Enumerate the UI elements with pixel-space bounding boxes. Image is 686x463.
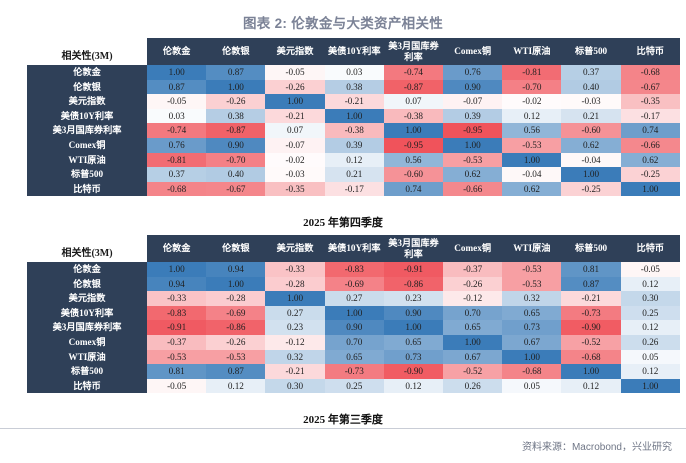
row-label: 标普500 bbox=[27, 364, 147, 379]
column-header-8: 标普500 bbox=[561, 38, 620, 65]
column-header-6: Comex铜 bbox=[443, 38, 502, 65]
heatmap-cell: -0.53 bbox=[502, 262, 561, 277]
column-header-2: 伦敦银 bbox=[206, 38, 265, 65]
row-label: WTI原油 bbox=[27, 350, 147, 365]
row-label: 美元指数 bbox=[27, 291, 147, 306]
heatmap-cell: -0.05 bbox=[147, 379, 206, 394]
heatmap-cell: -0.60 bbox=[384, 167, 443, 182]
heatmap-cell: 0.94 bbox=[206, 262, 265, 277]
table-row: 美债10Y利率0.030.38-0.211.00-0.380.390.120.2… bbox=[27, 109, 680, 124]
heatmap-cell: 0.73 bbox=[502, 320, 561, 335]
correlation-table-q4: 相关性(3M)伦敦金伦敦银美元指数美债10Y利率美3月国库券利率Comex铜WT… bbox=[27, 38, 680, 196]
table-row: WTI原油-0.53-0.530.320.650.730.671.00-0.68… bbox=[27, 350, 680, 365]
heatmap-cell: 1.00 bbox=[384, 320, 443, 335]
heatmap-cell: 0.26 bbox=[443, 379, 502, 394]
column-header-1: 伦敦金 bbox=[147, 38, 206, 65]
heatmap-cell: -0.35 bbox=[621, 94, 680, 109]
heatmap-cell: -0.04 bbox=[502, 167, 561, 182]
heatmap-cell: -0.91 bbox=[147, 320, 206, 335]
heatmap-cell: 1.00 bbox=[147, 65, 206, 80]
column-header-8: 标普500 bbox=[561, 235, 620, 262]
heatmap-cell: -0.87 bbox=[206, 123, 265, 138]
heatmap-cell: -0.83 bbox=[147, 306, 206, 321]
heatmap-cell: 0.87 bbox=[147, 80, 206, 95]
heatmap-cell: -0.21 bbox=[325, 94, 384, 109]
heatmap-cell: 0.25 bbox=[621, 306, 680, 321]
heatmap-cell: -0.38 bbox=[384, 109, 443, 124]
heatmap-cell: 1.00 bbox=[384, 123, 443, 138]
heatmap-cell: 1.00 bbox=[621, 379, 680, 394]
heatmap-cell: 0.03 bbox=[147, 109, 206, 124]
heatmap-cell: -0.12 bbox=[265, 335, 324, 350]
row-label: Comex铜 bbox=[27, 138, 147, 153]
heatmap-cell: -0.70 bbox=[206, 153, 265, 168]
heatmap-cell: 1.00 bbox=[325, 306, 384, 321]
heatmap-cell: 0.76 bbox=[147, 138, 206, 153]
column-header-7: WTI原油 bbox=[502, 235, 561, 262]
heatmap-cell: 1.00 bbox=[443, 335, 502, 350]
heatmap-cell: -0.05 bbox=[265, 65, 324, 80]
heatmap-cell: 0.65 bbox=[325, 350, 384, 365]
heatmap-cell: 1.00 bbox=[443, 138, 502, 153]
page-title: 图表 2: 伦敦金与大类资产相关性 bbox=[0, 12, 686, 32]
heatmap-cell: 0.32 bbox=[502, 291, 561, 306]
column-header-5: 美3月国库券利率 bbox=[384, 235, 443, 262]
heatmap-cell: -0.25 bbox=[561, 182, 620, 197]
heatmap-cell: -0.68 bbox=[621, 65, 680, 80]
heatmap-cell: 0.67 bbox=[443, 350, 502, 365]
table-header-row: 相关性(3M)伦敦金伦敦银美元指数美债10Y利率美3月国库券利率Comex铜WT… bbox=[27, 38, 680, 65]
heatmap-cell: 1.00 bbox=[206, 80, 265, 95]
heatmap-cell: 0.38 bbox=[325, 80, 384, 95]
heatmap-cell: -0.67 bbox=[206, 182, 265, 197]
heatmap-cell: 0.23 bbox=[265, 320, 324, 335]
table-row: 伦敦金1.000.87-0.050.03-0.740.76-0.810.37-0… bbox=[27, 65, 680, 80]
table-row: 伦敦银0.871.00-0.260.38-0.870.90-0.700.40-0… bbox=[27, 80, 680, 95]
heatmap-cell: 0.27 bbox=[325, 291, 384, 306]
heatmap-cell: -0.66 bbox=[443, 182, 502, 197]
column-header-9: 比特币 bbox=[621, 235, 680, 262]
heatmap-cell: 0.23 bbox=[384, 291, 443, 306]
heatmap-cell: 0.94 bbox=[147, 277, 206, 292]
heatmap-cell: 1.00 bbox=[502, 350, 561, 365]
heatmap-cell: 1.00 bbox=[206, 277, 265, 292]
heatmap-cell: -0.26 bbox=[443, 277, 502, 292]
table-row: 美3月国库券利率-0.74-0.870.07-0.381.00-0.950.56… bbox=[27, 123, 680, 138]
table-body: 伦敦金1.000.94-0.33-0.83-0.91-0.37-0.530.81… bbox=[27, 262, 680, 393]
heatmap-cell: -0.21 bbox=[265, 109, 324, 124]
table-row: 比特币-0.050.120.300.250.120.260.050.121.00 bbox=[27, 379, 680, 394]
heatmap-cell: -0.69 bbox=[325, 277, 384, 292]
row-label: 比特币 bbox=[27, 379, 147, 394]
row-label: 标普500 bbox=[27, 167, 147, 182]
row-label: 伦敦银 bbox=[27, 277, 147, 292]
heatmap-cell: 0.12 bbox=[621, 320, 680, 335]
heatmap-cell: -0.53 bbox=[443, 153, 502, 168]
row-label: 美3月国库券利率 bbox=[27, 320, 147, 335]
table-row: 美债10Y利率-0.83-0.690.271.000.900.700.65-0.… bbox=[27, 306, 680, 321]
table-header-row: 相关性(3M)伦敦金伦敦银美元指数美债10Y利率美3月国库券利率Comex铜WT… bbox=[27, 235, 680, 262]
heatmap-cell: -0.73 bbox=[561, 306, 620, 321]
column-header-3: 美元指数 bbox=[265, 38, 324, 65]
heatmap-cell: 0.62 bbox=[621, 153, 680, 168]
heatmap-cell: 0.39 bbox=[325, 138, 384, 153]
heatmap-cell: -0.26 bbox=[265, 80, 324, 95]
heatmap-cell: -0.05 bbox=[147, 94, 206, 109]
corner-label: 相关性(3M) bbox=[27, 235, 147, 262]
heatmap-cell: -0.17 bbox=[325, 182, 384, 197]
heatmap-cell: -0.33 bbox=[147, 291, 206, 306]
heatmap-cell: 1.00 bbox=[561, 167, 620, 182]
heatmap-cell: 1.00 bbox=[147, 262, 206, 277]
heatmap-cell: -0.33 bbox=[265, 262, 324, 277]
heatmap-cell: 0.70 bbox=[325, 335, 384, 350]
heatmap-cell: -0.03 bbox=[265, 167, 324, 182]
row-label: 比特币 bbox=[27, 182, 147, 197]
heatmap-cell: 1.00 bbox=[561, 364, 620, 379]
heatmap-cell: -0.90 bbox=[384, 364, 443, 379]
heatmap-cell: 0.12 bbox=[621, 277, 680, 292]
source-divider bbox=[0, 428, 686, 429]
heatmap-cell: 0.21 bbox=[561, 109, 620, 124]
heatmap-cell: 0.62 bbox=[443, 167, 502, 182]
heatmap-cell: 0.12 bbox=[206, 379, 265, 394]
heatmap-cell: -0.53 bbox=[147, 350, 206, 365]
heatmap-cell: 0.30 bbox=[621, 291, 680, 306]
heatmap-cell: -0.68 bbox=[561, 350, 620, 365]
heatmap-cell: 0.90 bbox=[325, 320, 384, 335]
heatmap-cell: 1.00 bbox=[325, 109, 384, 124]
heatmap-cell: -0.53 bbox=[502, 138, 561, 153]
heatmap-cell: -0.37 bbox=[443, 262, 502, 277]
heatmap-cell: -0.87 bbox=[384, 80, 443, 95]
heatmap-cell: 0.40 bbox=[561, 80, 620, 95]
column-header-5: 美3月国库券利率 bbox=[384, 38, 443, 65]
heatmap-cell: -0.74 bbox=[147, 123, 206, 138]
heatmap-cell: -0.68 bbox=[147, 182, 206, 197]
row-label: 美债10Y利率 bbox=[27, 306, 147, 321]
heatmap-cell: 0.12 bbox=[502, 109, 561, 124]
heatmap-cell: -0.81 bbox=[502, 65, 561, 80]
heatmap-cell: -0.12 bbox=[443, 291, 502, 306]
heatmap-cell: -0.21 bbox=[265, 364, 324, 379]
heatmap-cell: -0.26 bbox=[206, 94, 265, 109]
heatmap-cell: -0.05 bbox=[621, 262, 680, 277]
heatmap-cell: 0.12 bbox=[384, 379, 443, 394]
column-header-4: 美债10Y利率 bbox=[325, 235, 384, 262]
heatmap-cell: 0.81 bbox=[147, 364, 206, 379]
heatmap-cell: 0.56 bbox=[502, 123, 561, 138]
column-header-2: 伦敦银 bbox=[206, 235, 265, 262]
heatmap-cell: 0.21 bbox=[325, 167, 384, 182]
heatmap-cell: 0.90 bbox=[384, 306, 443, 321]
heatmap-cell: -0.02 bbox=[502, 94, 561, 109]
row-label: 美债10Y利率 bbox=[27, 109, 147, 124]
table-row: 美3月国库券利率-0.91-0.860.230.901.000.650.73-0… bbox=[27, 320, 680, 335]
heatmap-cell: -0.26 bbox=[206, 335, 265, 350]
column-header-3: 美元指数 bbox=[265, 235, 324, 262]
heatmap-cell: 0.07 bbox=[384, 94, 443, 109]
heatmap-cell: 0.37 bbox=[561, 65, 620, 80]
heatmap-cell: 1.00 bbox=[502, 153, 561, 168]
row-label: WTI原油 bbox=[27, 153, 147, 168]
heatmap-cell: -0.74 bbox=[384, 65, 443, 80]
heatmap-cell: 0.62 bbox=[502, 182, 561, 197]
row-label: Comex铜 bbox=[27, 335, 147, 350]
heatmap-cell: 0.87 bbox=[206, 364, 265, 379]
source-note: 资料来源：Macrobond，兴业研究 bbox=[522, 438, 672, 453]
heatmap-cell: 0.67 bbox=[502, 335, 561, 350]
table-row: 标普5000.370.40-0.030.21-0.600.62-0.041.00… bbox=[27, 167, 680, 182]
heatmap-cell: -0.66 bbox=[621, 138, 680, 153]
table-row: 伦敦金1.000.94-0.33-0.83-0.91-0.37-0.530.81… bbox=[27, 262, 680, 277]
heatmap-cell: 0.40 bbox=[206, 167, 265, 182]
heatmap-cell: 0.37 bbox=[147, 167, 206, 182]
heatmap-cell: 0.62 bbox=[561, 138, 620, 153]
column-header-1: 伦敦金 bbox=[147, 235, 206, 262]
heatmap-cell: 0.05 bbox=[621, 350, 680, 365]
heatmap-cell: -0.81 bbox=[147, 153, 206, 168]
row-label: 伦敦银 bbox=[27, 80, 147, 95]
correlation-table-q3: 相关性(3M)伦敦金伦敦银美元指数美债10Y利率美3月国库券利率Comex铜WT… bbox=[27, 235, 680, 393]
table-row: WTI原油-0.81-0.70-0.020.120.56-0.531.00-0.… bbox=[27, 153, 680, 168]
heatmap-cell: -0.17 bbox=[621, 109, 680, 124]
row-label: 伦敦金 bbox=[27, 65, 147, 80]
heatmap-cell: 0.73 bbox=[384, 350, 443, 365]
heatmap-cell: 0.03 bbox=[325, 65, 384, 80]
heatmap-cell: -0.68 bbox=[502, 364, 561, 379]
heatmap-cell: -0.67 bbox=[621, 80, 680, 95]
heatmap-cell: -0.03 bbox=[561, 94, 620, 109]
heatmap-cell: 0.76 bbox=[443, 65, 502, 80]
heatmap-cell: 0.90 bbox=[443, 80, 502, 95]
row-label: 美元指数 bbox=[27, 94, 147, 109]
heatmap-cell: 1.00 bbox=[621, 182, 680, 197]
row-label: 美3月国库券利率 bbox=[27, 123, 147, 138]
heatmap-cell: -0.21 bbox=[561, 291, 620, 306]
column-header-7: WTI原油 bbox=[502, 38, 561, 65]
heatmap-cell: 1.00 bbox=[265, 291, 324, 306]
heatmap-cell: -0.25 bbox=[621, 167, 680, 182]
heatmap-cell: -0.38 bbox=[325, 123, 384, 138]
heatmap-cell: 0.87 bbox=[561, 277, 620, 292]
heatmap-cell: 0.12 bbox=[561, 379, 620, 394]
heatmap-cell: -0.28 bbox=[265, 277, 324, 292]
heatmap-cell: -0.86 bbox=[384, 277, 443, 292]
heatmap-cell: 0.56 bbox=[384, 153, 443, 168]
heatmap-cell: -0.86 bbox=[206, 320, 265, 335]
table-row: 美元指数-0.05-0.261.00-0.210.07-0.07-0.02-0.… bbox=[27, 94, 680, 109]
heatmap-cell: 0.74 bbox=[621, 123, 680, 138]
heatmap-cell: -0.35 bbox=[265, 182, 324, 197]
heatmap-cell: 0.65 bbox=[502, 306, 561, 321]
table-caption-q4: 2025 年第四季度 bbox=[0, 214, 686, 230]
heatmap-cell: -0.52 bbox=[561, 335, 620, 350]
heatmap-cell: 0.39 bbox=[443, 109, 502, 124]
heatmap-cell: -0.07 bbox=[265, 138, 324, 153]
heatmap-cell: 0.87 bbox=[206, 65, 265, 80]
heatmap-cell: -0.95 bbox=[384, 138, 443, 153]
column-header-4: 美债10Y利率 bbox=[325, 38, 384, 65]
heatmap-cell: 0.25 bbox=[325, 379, 384, 394]
heatmap-cell: -0.70 bbox=[502, 80, 561, 95]
heatmap-cell: 0.65 bbox=[384, 335, 443, 350]
heatmap-cell: 0.74 bbox=[384, 182, 443, 197]
heatmap-cell: -0.83 bbox=[325, 262, 384, 277]
heatmap-cell: -0.07 bbox=[443, 94, 502, 109]
heatmap-cell: -0.60 bbox=[561, 123, 620, 138]
heatmap-cell: -0.53 bbox=[502, 277, 561, 292]
heatmap-cell: 0.12 bbox=[621, 364, 680, 379]
corner-label: 相关性(3M) bbox=[27, 38, 147, 65]
heatmap-cell: 0.38 bbox=[206, 109, 265, 124]
heatmap-cell: 0.32 bbox=[265, 350, 324, 365]
heatmap-cell: -0.53 bbox=[206, 350, 265, 365]
table-row: 标普5000.810.87-0.21-0.73-0.90-0.52-0.681.… bbox=[27, 364, 680, 379]
table-row: 美元指数-0.33-0.281.000.270.23-0.120.32-0.21… bbox=[27, 291, 680, 306]
heatmap-cell: 0.26 bbox=[621, 335, 680, 350]
heatmap-cell: 0.30 bbox=[265, 379, 324, 394]
heatmap-cell: 0.05 bbox=[502, 379, 561, 394]
column-header-9: 比特币 bbox=[621, 38, 680, 65]
column-header-6: Comex铜 bbox=[443, 235, 502, 262]
table-row: 比特币-0.68-0.67-0.35-0.170.74-0.660.62-0.2… bbox=[27, 182, 680, 197]
heatmap-cell: -0.95 bbox=[443, 123, 502, 138]
heatmap-cell: -0.02 bbox=[265, 153, 324, 168]
heatmap-table: 相关性(3M)伦敦金伦敦银美元指数美债10Y利率美3月国库券利率Comex铜WT… bbox=[27, 38, 680, 196]
heatmap-cell: 0.81 bbox=[561, 262, 620, 277]
heatmap-cell: -0.52 bbox=[443, 364, 502, 379]
table-body: 伦敦金1.000.87-0.050.03-0.740.76-0.810.37-0… bbox=[27, 65, 680, 196]
heatmap-cell: -0.73 bbox=[325, 364, 384, 379]
heatmap-cell: -0.37 bbox=[147, 335, 206, 350]
heatmap-cell: 0.27 bbox=[265, 306, 324, 321]
heatmap-cell: 0.70 bbox=[443, 306, 502, 321]
heatmap-cell: -0.04 bbox=[561, 153, 620, 168]
heatmap-cell: 0.90 bbox=[206, 138, 265, 153]
heatmap-cell: -0.28 bbox=[206, 291, 265, 306]
heatmap-table: 相关性(3M)伦敦金伦敦银美元指数美债10Y利率美3月国库券利率Comex铜WT… bbox=[27, 235, 680, 393]
heatmap-cell: -0.69 bbox=[206, 306, 265, 321]
heatmap-cell: 0.07 bbox=[265, 123, 324, 138]
heatmap-cell: 0.65 bbox=[443, 320, 502, 335]
table-row: 伦敦银0.941.00-0.28-0.69-0.86-0.26-0.530.87… bbox=[27, 277, 680, 292]
table-caption-q3: 2025 年第三季度 bbox=[0, 411, 686, 427]
heatmap-cell: 1.00 bbox=[265, 94, 324, 109]
table-row: Comex铜-0.37-0.26-0.120.700.651.000.67-0.… bbox=[27, 335, 680, 350]
heatmap-cell: -0.91 bbox=[384, 262, 443, 277]
table-row: Comex铜0.760.90-0.070.39-0.951.00-0.530.6… bbox=[27, 138, 680, 153]
heatmap-cell: 0.12 bbox=[325, 153, 384, 168]
row-label: 伦敦金 bbox=[27, 262, 147, 277]
heatmap-cell: -0.90 bbox=[561, 320, 620, 335]
